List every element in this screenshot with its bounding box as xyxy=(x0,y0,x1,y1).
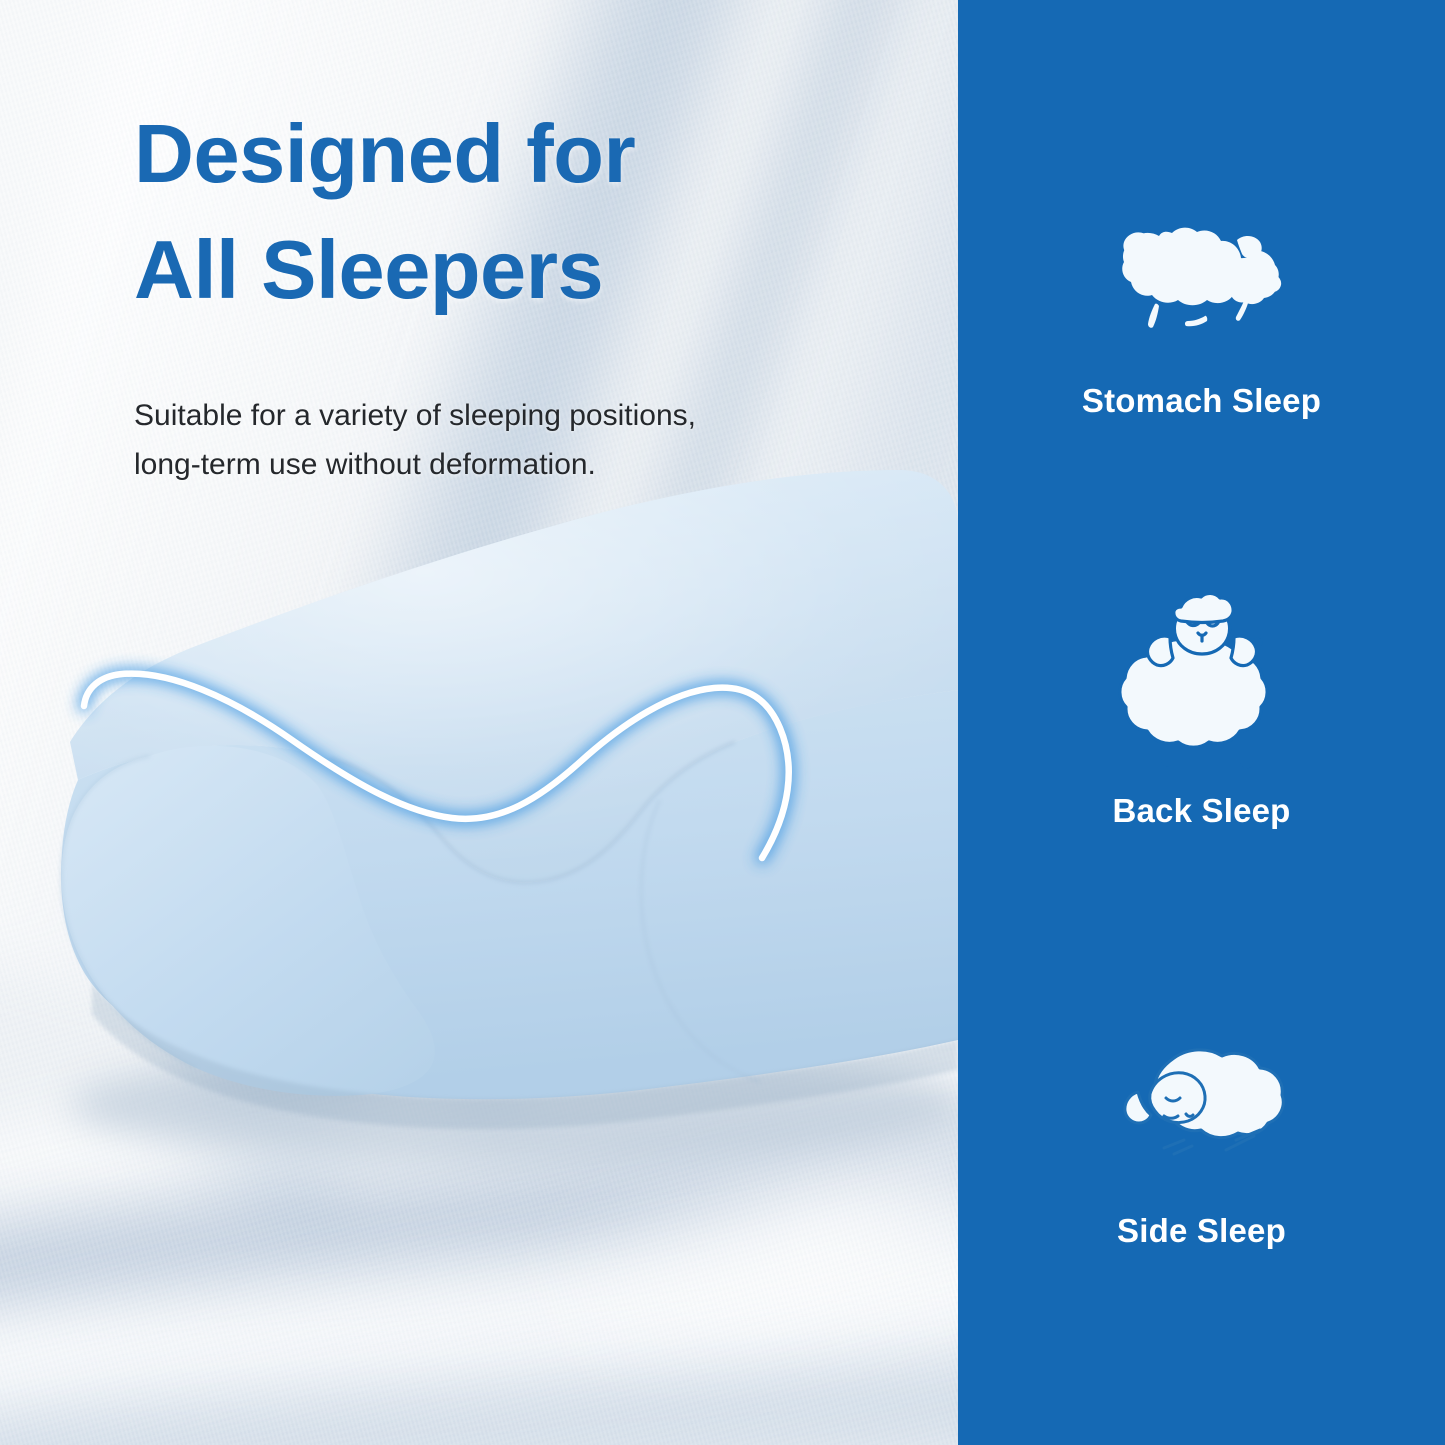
headline-line-2: All Sleepers xyxy=(134,212,874,328)
pillow-seam-left xyxy=(62,756,197,1068)
page-title: Designed for All Sleepers xyxy=(134,96,874,328)
feature-label-stomach-sleep: Stomach Sleep xyxy=(958,382,1445,420)
fabric-fold-5 xyxy=(501,1048,958,1421)
sheep-back-sleep-svg xyxy=(1107,593,1297,778)
pillow-top-surface xyxy=(70,470,958,882)
fabric-fold-1 xyxy=(0,1001,958,1239)
pillow-bottom-shade xyxy=(92,984,958,1129)
fabric-fold-3 xyxy=(0,1205,958,1445)
pillow-top-sheen xyxy=(70,470,958,882)
pillow-contact-shadow xyxy=(70,1047,958,1163)
page-subtitle: Suitable for a variety of sleeping posit… xyxy=(134,392,854,489)
feature-back-sleep[interactable]: Back Sleep xyxy=(958,600,1445,830)
feature-side-sleep[interactable]: Side Sleep xyxy=(958,1020,1445,1250)
sheep-stomach-sleep-icon xyxy=(958,190,1445,360)
product-feature-banner: Stomach Sleep xyxy=(0,0,1445,1445)
sheep-side-leg-1 xyxy=(1164,1140,1184,1148)
pillow-front-face xyxy=(61,690,958,1099)
contour-wave-highlight xyxy=(84,674,789,858)
sheep-side-ear xyxy=(1124,1092,1150,1123)
subtitle-line-1: Suitable for a variety of sleeping posit… xyxy=(134,399,696,432)
subtitle-line-2: long-term use without deformation. xyxy=(134,448,596,481)
sheep-side-leg-2 xyxy=(1174,1146,1192,1154)
sheep-stomach-sleep-svg xyxy=(1097,200,1307,350)
sleep-positions-panel: Stomach Sleep xyxy=(958,0,1445,1445)
pillow-left-end-cap xyxy=(62,746,435,1096)
feature-label-side-sleep: Side Sleep xyxy=(958,1212,1445,1250)
feature-label-back-sleep: Back Sleep xyxy=(958,792,1445,830)
sheep-side-sleep-icon xyxy=(958,1020,1445,1190)
pillow-contour-seam xyxy=(330,742,735,882)
fabric-fold-4 xyxy=(0,1319,958,1445)
sheep-side-sleep-svg xyxy=(1102,1040,1302,1170)
pillow-seam-right xyxy=(641,800,760,1082)
fabric-fold-2 xyxy=(0,1071,958,1358)
contour-wave-glow xyxy=(84,674,789,858)
sheep-back-sleep-icon xyxy=(958,600,1445,770)
feature-stomach-sleep[interactable]: Stomach Sleep xyxy=(958,190,1445,420)
headline-line-1: Designed for xyxy=(134,107,635,200)
